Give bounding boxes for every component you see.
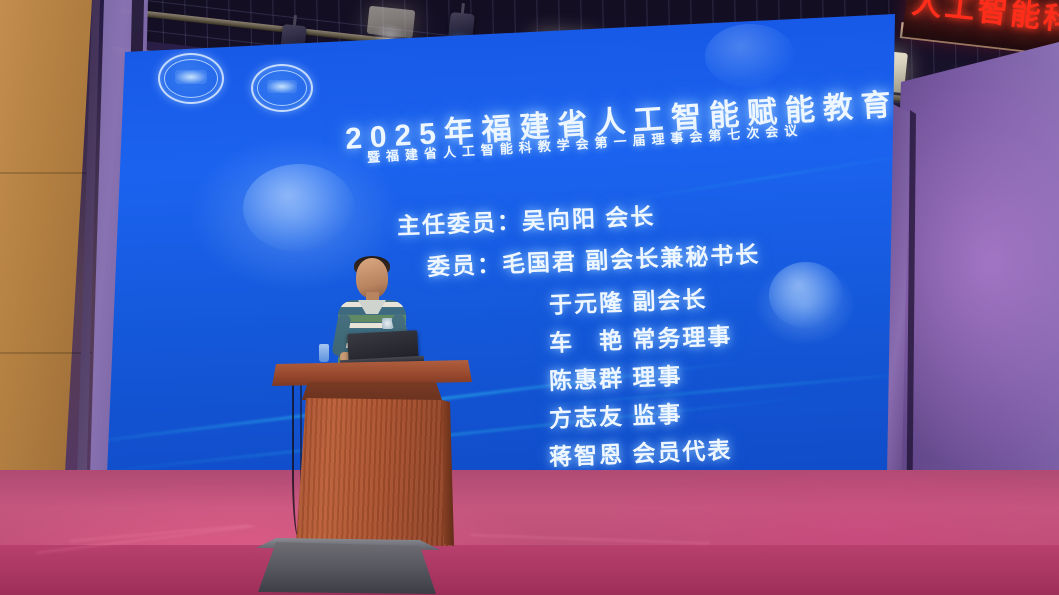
screen-roster-line-7: 蒋智恩 会员代表: [548, 431, 733, 472]
emblem-right-icon: [251, 64, 313, 112]
stage-monitor: [258, 542, 436, 594]
podium: [272, 360, 472, 550]
screen-roster-line-4: 车 艳 常务理事: [548, 317, 733, 358]
led-banner-text: 人工智能科: [910, 0, 1059, 40]
screen-roster-line-3: 于元隆 副会长: [548, 280, 708, 320]
screen-roster-line-2: 委员：毛国君 副会长兼秘书长: [426, 235, 760, 282]
left-wall-seam-2: [0, 352, 92, 354]
podium-body: [296, 398, 450, 546]
emblem-left-icon: [158, 53, 224, 104]
fresnel-light-7: [367, 6, 416, 39]
podium-side-edge: [442, 400, 454, 546]
screen-glow-orb-1: [243, 164, 355, 252]
led-screen: 2025年福建省人工智能赋能教育论坛 暨福建省人工智能科教学会第一届理事会第七次…: [105, 14, 895, 522]
left-wall-seam-1: [0, 172, 92, 174]
conference-stage-photo: 人工智能科 2025年福建省人工智能赋能教育论坛 暨福建省人工智能科教学会第一届…: [0, 0, 1059, 595]
screen-roster-line-5: 陈惠群 理事: [548, 357, 683, 396]
screen-roster-line-1: 主任委员：吴向阳 会长: [396, 197, 656, 241]
stage-floor-front: [0, 545, 1059, 595]
screen-roster-line-6: 方志友 监事: [548, 395, 683, 434]
screen-glow-orb-3: [705, 24, 795, 88]
podium-neck: [302, 382, 442, 400]
screen-glow-orb-2: [769, 262, 843, 328]
